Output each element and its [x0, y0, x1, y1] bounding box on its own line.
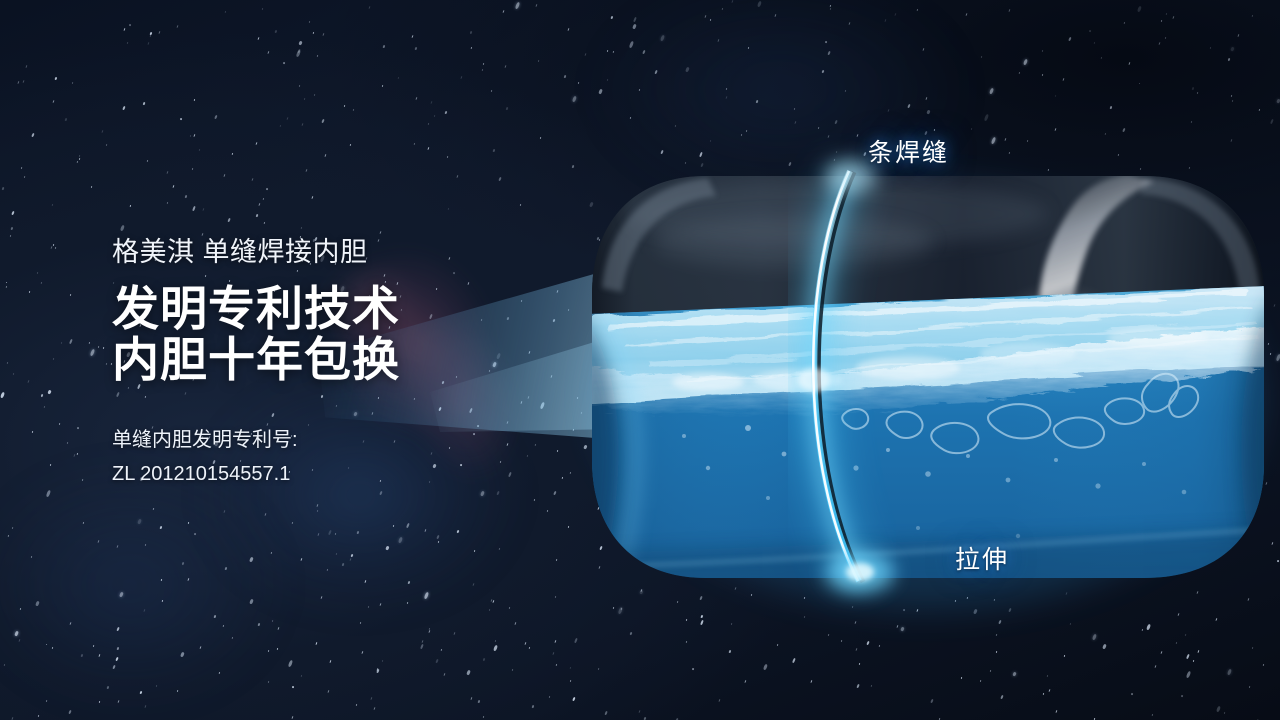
- poster-canvas: 条焊缝 拉伸 格美淇 单缝焊接内胆 发明专利技术 内胆十年包换 单缝内胆发明专利…: [0, 0, 1280, 720]
- patent-info: 单缝内胆发明专利号: ZL 201210154557.1: [112, 423, 542, 492]
- callout-weld-seam: 条焊缝: [868, 133, 949, 169]
- headline-line-1: 发明专利技术: [112, 284, 542, 334]
- copy-block: 格美淇 单缝焊接内胆 发明专利技术 内胆十年包换 单缝内胆发明专利号: ZL 2…: [112, 236, 542, 492]
- water-tank-illustration: [588, 168, 1268, 586]
- patent-label: 单缝内胆发明专利号:: [112, 423, 542, 457]
- headline-line-2: 内胆十年包换: [112, 335, 542, 385]
- brand-tagline: 格美淇 单缝焊接内胆: [112, 236, 542, 268]
- patent-number: ZL 201210154557.1: [112, 457, 542, 491]
- capsule-body: [578, 158, 1278, 598]
- headline: 发明专利技术 内胆十年包换: [112, 284, 542, 385]
- callout-stretch: 拉伸: [955, 540, 1009, 576]
